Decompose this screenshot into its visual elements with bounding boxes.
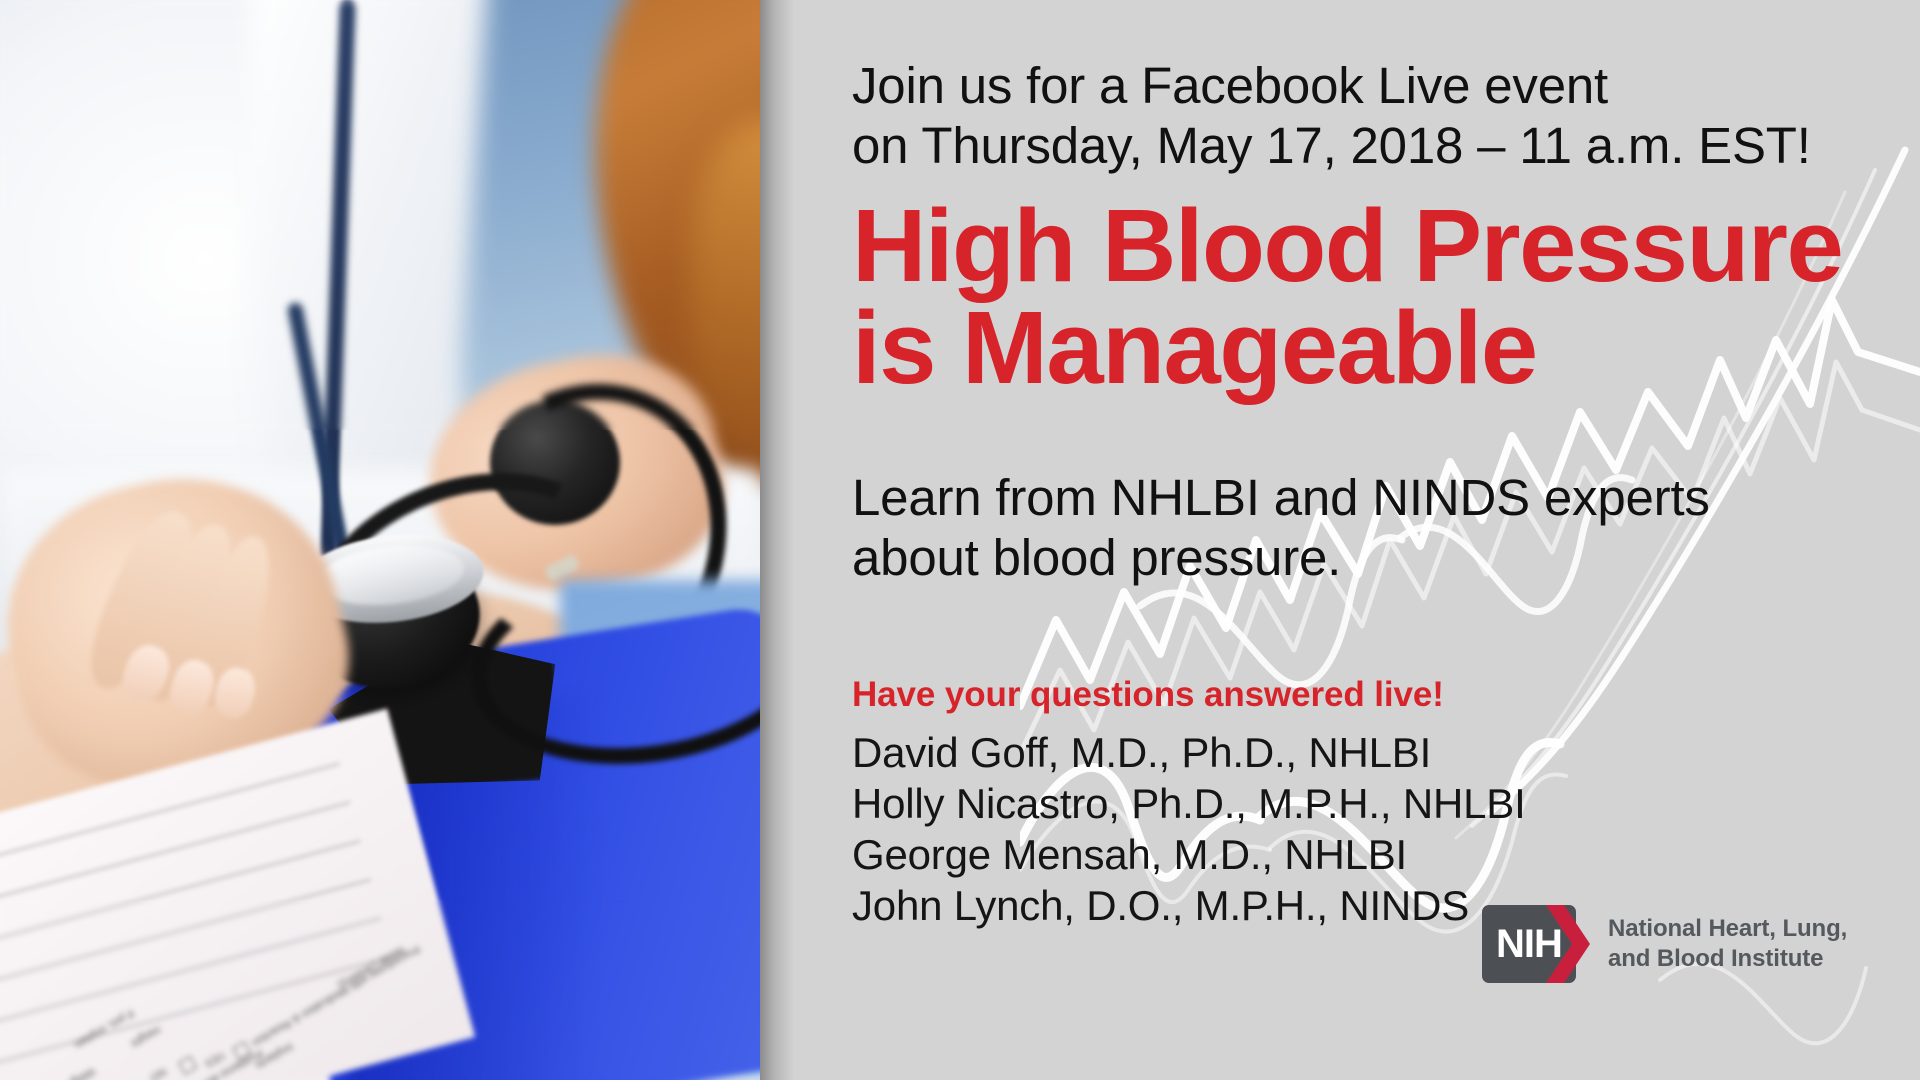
promo-poster: Age Weight Height If yes, explain NO YES…	[0, 0, 1920, 1080]
blood-pressure-photo: Age Weight Height If yes, explain NO YES…	[0, 0, 760, 1080]
speaker-list: David Goff, M.D., Ph.D., NHLBI Holly Nic…	[852, 727, 1892, 932]
nhlbi-logo: NIH National Heart, Lung, and Blood Inst…	[1482, 905, 1847, 983]
list-item: George Mensah, M.D., NHLBI	[852, 829, 1892, 880]
page-title: High Blood Pressure is Manageable	[852, 195, 1892, 399]
depth-of-field-top	[0, 0, 760, 430]
depth-of-field-bottom	[0, 900, 760, 1080]
nih-wordmark: NIH	[1482, 905, 1576, 983]
list-item: David Goff, M.D., Ph.D., NHLBI	[852, 727, 1892, 778]
nih-logo-mark: NIH	[1482, 905, 1590, 983]
panel-edge-shadow	[760, 0, 794, 1080]
institute-name: National Heart, Lung, and Blood Institut…	[1608, 914, 1847, 974]
event-kicker: Join us for a Facebook Live event on Thu…	[852, 56, 1892, 175]
event-subcopy: Learn from NHLBI and NINDS experts about…	[852, 468, 1892, 588]
list-item: Holly Nicastro, Ph.D., M.P.H., NHLBI	[852, 778, 1892, 829]
questions-cta: Have your questions answered live!	[852, 675, 1892, 715]
